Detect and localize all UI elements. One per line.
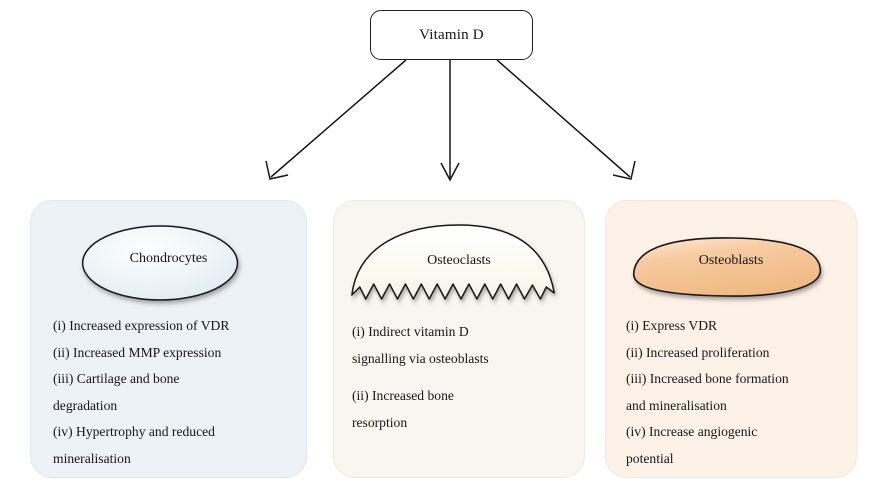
node-vitamin-d: Vitamin D [370, 10, 533, 60]
arrow-to-osteoclasts [441, 60, 459, 180]
osteoclast-item-list: (i) Indirect vitamin D signalling via os… [352, 319, 570, 447]
list-item: (iv) Hypertrophy and reduced mineralisat… [53, 419, 292, 472]
diagram-canvas: Vitamin D Chondrocytes (i) I [0, 0, 885, 495]
node-vitamin-d-label: Vitamin D [419, 27, 484, 44]
list-item: (i) Increased expression of VDR [53, 313, 292, 340]
list-item: (iii) Increased bone formation and miner… [626, 366, 842, 419]
list-item: (ii) Increased MMP expression [53, 340, 292, 367]
panel-osteoblasts: Osteoblasts (i) Express VDR (ii) Increas… [605, 200, 857, 478]
osteoblast-cell-label: Osteoblasts [606, 253, 856, 269]
chondrocyte-cell-label: Chondrocytes [31, 251, 306, 267]
panel-chondrocytes: Chondrocytes (i) Increased expression of… [30, 200, 307, 478]
panel-osteoclasts: Osteoclasts (i) Indirect vitamin D signa… [333, 200, 585, 478]
arrow-to-osteoblasts [497, 60, 635, 179]
osteoblast-item-list: (i) Express VDR (ii) Increased prolifera… [626, 313, 842, 472]
chondrocyte-item-list: (i) Increased expression of VDR (ii) Inc… [53, 313, 292, 472]
list-item: (iii) Cartilage and bone degradation [53, 366, 292, 419]
list-item: (ii) Increased bone resorption [352, 383, 570, 436]
list-item: (i) Indirect vitamin D signalling via os… [352, 319, 570, 372]
osteoclast-cell-label: Osteoclasts [334, 253, 584, 269]
arrow-to-chondrocytes [266, 60, 406, 179]
list-item: (i) Express VDR [626, 313, 842, 340]
list-item: (ii) Increased proliferation [626, 340, 842, 367]
list-item: (iv) Increase angiogenic potential [626, 419, 842, 472]
